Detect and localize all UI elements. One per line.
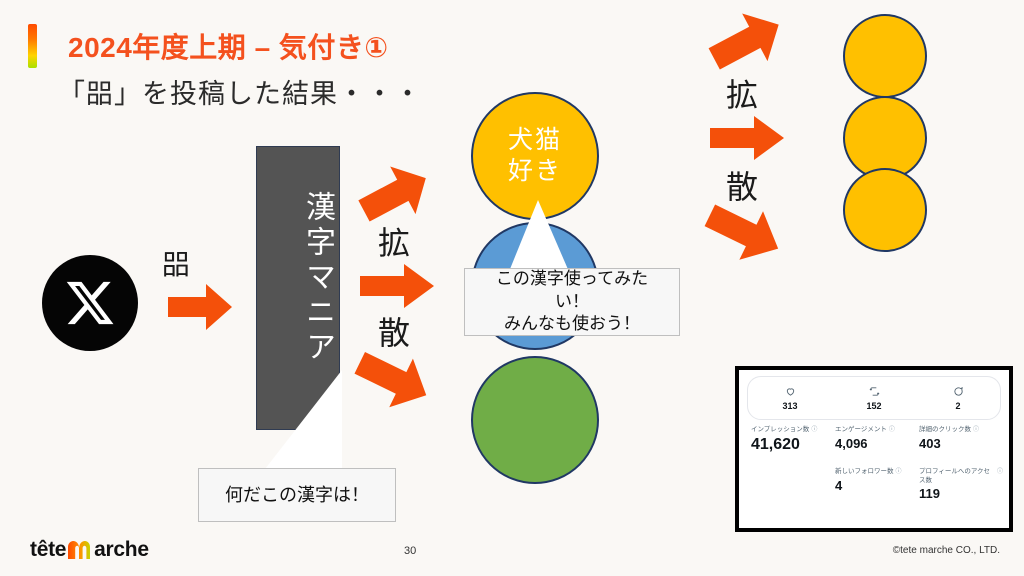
arrow-down-right-mid-icon bbox=[352, 348, 434, 410]
metric-detail-clicks-value: 403 bbox=[919, 436, 1003, 451]
info-icon[interactable]: ⓘ bbox=[997, 468, 1003, 476]
brand-logo-text-2: arche bbox=[94, 538, 149, 562]
analytics-metrics-row-2: 新しいフォロワー数 ⓘ 4 プロフィールへのアクセス数 ⓘ 119 bbox=[751, 468, 1003, 502]
audience-circle-green bbox=[471, 356, 599, 484]
engagement-replies: 2 bbox=[916, 385, 1000, 411]
metric-engagement: エンゲージメント ⓘ 4,096 bbox=[835, 426, 919, 454]
metric-new-followers-label: 新しいフォロワー数 bbox=[835, 468, 894, 477]
reply-icon bbox=[916, 385, 1000, 398]
arrow-right-1-icon bbox=[168, 284, 232, 330]
analytics-metrics-grid: インプレッション数 ⓘ 41,620 エンゲージメント ⓘ 4,096 詳細のク… bbox=[751, 426, 1003, 524]
metric-engagement-label: エンゲージメント bbox=[835, 426, 887, 435]
spread-circle-1 bbox=[843, 14, 927, 98]
engagement-retweets: 152 bbox=[832, 385, 916, 411]
engagement-likes-value: 313 bbox=[748, 401, 832, 411]
x-logo-icon bbox=[42, 255, 138, 351]
metric-engagement-value: 4,096 bbox=[835, 436, 919, 451]
page-subtitle: 「㗊」を投稿した結果・・・ bbox=[58, 72, 422, 111]
spread-circle-3 bbox=[843, 168, 927, 252]
arrow-right-right-icon bbox=[710, 116, 784, 160]
spread-text-top-mid: 拡 bbox=[378, 218, 410, 264]
posted-kanji-label: 㗊 bbox=[162, 243, 190, 283]
info-icon[interactable]: ⓘ bbox=[896, 468, 902, 476]
spread-text-top-right: 拡 bbox=[726, 70, 758, 116]
metric-detail-clicks-label: 詳細のクリック数 bbox=[919, 426, 971, 435]
metric-profile-visits: プロフィールへのアクセス数 ⓘ 119 bbox=[919, 468, 1003, 502]
bubble-right-line-2: みんなも使おう！ bbox=[504, 313, 640, 336]
heart-icon bbox=[748, 385, 832, 398]
metric-spacer bbox=[751, 468, 835, 502]
brand-logo-text-1: tête bbox=[30, 538, 66, 562]
bubble-right: この漢字使ってみたい！ みんなも使おう！ bbox=[464, 268, 680, 336]
crown-icon bbox=[67, 540, 93, 560]
metric-new-followers: 新しいフォロワー数 ⓘ 4 bbox=[835, 468, 919, 502]
analytics-metrics-row-1: インプレッション数 ⓘ 41,620 エンゲージメント ⓘ 4,096 詳細のク… bbox=[751, 426, 1003, 454]
engagement-replies-value: 2 bbox=[916, 401, 1000, 411]
info-icon[interactable]: ⓘ bbox=[811, 426, 817, 434]
brand-logo: tête arche bbox=[30, 538, 149, 562]
arrow-right-mid-icon bbox=[360, 264, 434, 308]
metric-profile-visits-label: プロフィールへのアクセス数 bbox=[919, 468, 995, 486]
metric-new-followers-value: 4 bbox=[835, 478, 919, 493]
slide-canvas: 2024年度上期 – 気付き① 「㗊」を投稿した結果・・・ 㗊 漢字マニア 拡 … bbox=[0, 0, 1024, 576]
arrow-down-right-right-icon bbox=[702, 200, 786, 264]
title-accent-bar bbox=[28, 24, 37, 68]
audience-line-1: 犬猫 bbox=[508, 125, 562, 156]
page-title: 2024年度上期 – 気付き① bbox=[68, 26, 389, 66]
page-number: 30 bbox=[404, 545, 416, 557]
copyright-notice: ©tete marche CO., LTD. bbox=[893, 545, 1000, 556]
metric-impressions: インプレッション数 ⓘ 41,620 bbox=[751, 426, 835, 454]
panel-callout-tail bbox=[258, 370, 342, 483]
metric-detail-clicks: 詳細のクリック数 ⓘ 403 bbox=[919, 426, 1003, 454]
metric-impressions-label: インプレッション数 bbox=[751, 426, 809, 435]
info-icon[interactable]: ⓘ bbox=[889, 426, 895, 434]
bubble-right-line-1: この漢字使ってみたい！ bbox=[479, 268, 665, 314]
bubble-left: 何だこの漢字は！ bbox=[198, 468, 396, 522]
metric-profile-visits-value: 119 bbox=[919, 486, 1003, 501]
arrow-up-right-right-icon bbox=[706, 12, 786, 72]
info-icon[interactable]: ⓘ bbox=[973, 426, 979, 434]
arrow-up-right-mid-icon bbox=[356, 166, 432, 224]
engagement-likes: 313 bbox=[748, 385, 832, 411]
analytics-card: 313 152 2 インプレッション数 ⓘ bbox=[735, 366, 1013, 532]
engagement-summary-row: 313 152 2 bbox=[747, 376, 1001, 420]
audience-line-2: 好き bbox=[508, 156, 562, 187]
engagement-retweets-value: 152 bbox=[832, 401, 916, 411]
metric-impressions-value: 41,620 bbox=[751, 436, 835, 454]
retweet-icon bbox=[832, 385, 916, 398]
